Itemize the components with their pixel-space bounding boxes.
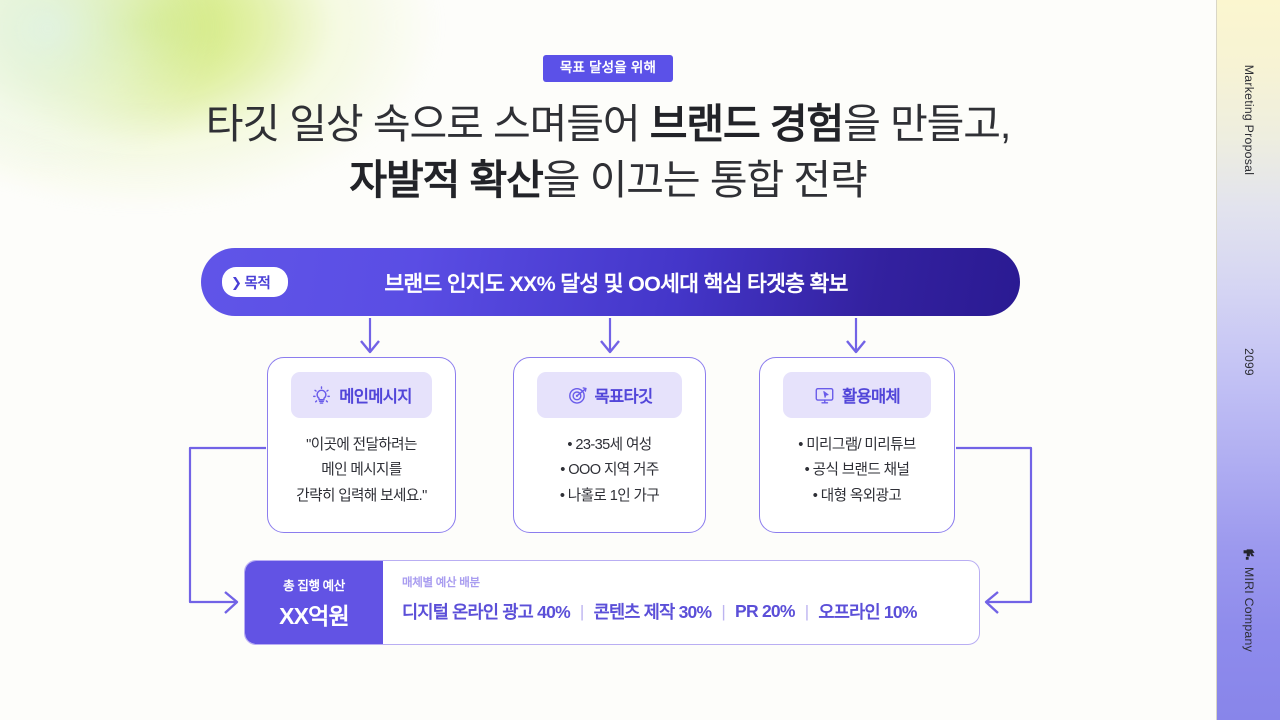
card-line: 간략히 입력해 보세요." [296,484,426,509]
card-target-audience-title: 목표타깃 [595,383,653,407]
objective-pill: ❯ 목적 [222,267,288,297]
slide-canvas: 목표 달성을 위해 타깃 일상 속으로 스며들어 브랜드 경험을 만들고, 자발… [0,0,1216,720]
sidebar-deck-title: Marketing Proposal [1242,65,1256,175]
card-line: 메인 메시지를 [321,458,401,483]
budget-total-value: XX억원 [279,597,349,631]
card-line: 공식 브랜드 채널 [805,458,910,483]
headline-line-1: 타깃 일상 속으로 스며들어 브랜드 경험을 만들고, [0,96,1216,152]
card-line: OOO 지역 거주 [560,458,658,483]
budget-item: 디지털 온라인 광고 40% [402,599,570,624]
headline-line1-post: 을 만들고, [843,101,1010,147]
headline-line1-pre: 타깃 일상 속으로 스며들어 [206,101,650,147]
budget-allocation-list: 디지털 온라인 광고 40% | 콘텐츠 제작 30% | PR 20% | 오… [402,599,979,624]
lightbulb-icon [311,385,332,406]
card-target-audience-header: 목표타깃 [537,372,682,418]
sidebar-company: MIRI Company [1242,548,1256,652]
page-title: 타깃 일상 속으로 스며들어 브랜드 경험을 만들고, 자발적 확산을 이끄는 … [0,96,1216,208]
arrowhead-budget-right [986,592,998,613]
arrowhead-card-1 [361,341,379,352]
card-main-message: 메인메시지 "이곳에 전달하려는 메인 메시지를 간략히 입력해 보세요." [267,357,456,533]
budget-total-label: 총 집행 예산 [283,575,345,594]
budget-item: PR 20% [735,601,795,622]
chevron-right-icon: ❯ [231,276,242,289]
slide: 목표 달성을 위해 타깃 일상 속으로 스며들어 브랜드 경험을 만들고, 자발… [0,0,1280,720]
card-target-audience: 목표타깃 23-35세 여성 OOO 지역 거주 나홀로 1인 가구 [513,357,706,533]
eyebrow-row: 목표 달성을 위해 [0,55,1216,82]
arrowhead-budget-left [225,592,237,613]
card-line: 미리그램/ 미리튜브 [798,433,916,458]
card-line: 나홀로 1인 가구 [560,484,659,509]
objective-banner-title: 브랜드 인지도 XX% 달성 및 OO세대 핵심 타겟층 확보 [288,267,1020,298]
card-media-channels: 활용매체 미리그램/ 미리튜브 공식 브랜드 채널 대형 옥외광고 [759,357,955,533]
arrowhead-card-3 [847,341,865,352]
budget-separator: | [580,602,584,622]
miri-logo-icon [1242,548,1256,562]
objective-banner: ❯ 목적 브랜드 인지도 XX% 달성 및 OO세대 핵심 타겟층 확보 [201,248,1020,316]
budget-separator: | [721,602,725,622]
card-main-message-body: "이곳에 전달하려는 메인 메시지를 간략히 입력해 보세요." [280,418,443,532]
card-line: 대형 옥외광고 [813,484,901,509]
sidebar-company-label: MIRI Company [1242,567,1256,652]
target-icon [567,385,588,406]
card-main-message-header: 메인메시지 [291,372,432,418]
budget-breakdown-caption: 매체별 예산 배분 [402,574,979,590]
card-media-channels-body: 미리그램/ 미리튜브 공식 브랜드 채널 대형 옥외광고 [772,418,942,532]
budget-item: 오프라인 10% [818,599,916,624]
headline-line2-bold: 자발적 확산 [349,157,542,203]
budget-separator: | [805,602,809,622]
eyebrow-tag: 목표 달성을 위해 [543,55,673,82]
card-media-channels-title: 활용매체 [842,383,900,407]
headline-line-2: 자발적 확산을 이끄는 통합 전략 [0,152,1216,208]
right-sidebar: Marketing Proposal 2099 MIRI Company [1216,0,1280,720]
budget-bar: 총 집행 예산 XX억원 매체별 예산 배분 디지털 온라인 광고 40% | … [244,560,980,645]
card-main-message-title: 메인메시지 [339,383,411,407]
monitor-cursor-icon [814,385,835,406]
card-line: "이곳에 전달하려는 [306,433,417,458]
budget-breakdown: 매체별 예산 배분 디지털 온라인 광고 40% | 콘텐츠 제작 30% | … [383,561,979,644]
card-media-channels-header: 활용매체 [783,372,931,418]
headline-line2-post: 을 이끄는 통합 전략 [543,157,867,203]
sidebar-year: 2099 [1242,348,1256,376]
arrowhead-card-2 [601,341,619,352]
card-line: 23-35세 여성 [567,433,651,458]
budget-item: 콘텐츠 제작 30% [594,599,712,624]
objective-pill-label: 목적 [245,272,271,293]
card-target-audience-body: 23-35세 여성 OOO 지역 거주 나홀로 1인 가구 [526,418,693,532]
budget-total-block: 총 집행 예산 XX억원 [245,561,383,644]
headline-line1-bold: 브랜드 경험 [650,101,843,147]
